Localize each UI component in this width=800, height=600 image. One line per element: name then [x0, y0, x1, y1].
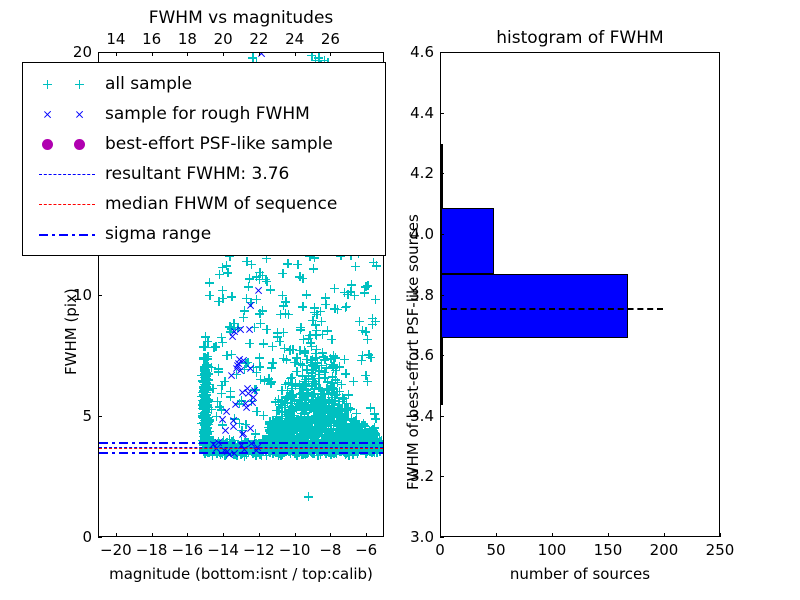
- scatter-point-all-sample: [351, 429, 360, 438]
- plus-marker-icon: [75, 80, 84, 89]
- scatter-point-all-sample: [201, 416, 210, 425]
- right-ytick: [440, 173, 444, 174]
- scatter-point-all-sample: [262, 277, 271, 286]
- scatter-point-all-sample: [310, 430, 319, 439]
- scatter-point-all-sample: [369, 428, 378, 437]
- scatter-point-all-sample: [274, 428, 283, 437]
- scatter-point-all-sample: [315, 422, 324, 431]
- scatter-point-all-sample: [291, 421, 300, 430]
- scatter-point-all-sample: [286, 428, 295, 437]
- scatter-point-all-sample: [317, 389, 326, 398]
- scatter-point-all-sample: [280, 432, 289, 441]
- scatter-point-all-sample: [327, 406, 336, 415]
- scatter-point-all-sample: [345, 425, 354, 434]
- scatter-point-all-sample: [323, 411, 332, 420]
- scatter-point-all-sample: [202, 361, 211, 370]
- legend-label: median FHWM of sequence: [105, 196, 337, 213]
- scatter-point-all-sample: [271, 424, 280, 433]
- scatter-point-all-sample: [330, 284, 339, 293]
- scatter-point-all-sample: [303, 433, 312, 442]
- scatter-point-all-sample: [252, 295, 261, 304]
- scatter-point-all-sample: [285, 423, 294, 432]
- scatter-point-all-sample: [265, 426, 274, 435]
- legend-label: best-effort PSF-like sample: [105, 136, 333, 153]
- scatter-point-all-sample: [202, 410, 211, 419]
- scatter-point-all-sample: [242, 294, 251, 303]
- scatter-point-all-sample: [368, 425, 377, 434]
- scatter-point-all-sample: [310, 405, 319, 414]
- scatter-point-all-sample: [200, 431, 209, 440]
- scatter-point-all-sample: [340, 421, 349, 430]
- scatter-point-all-sample: [199, 353, 208, 362]
- scatter-point-all-sample: [324, 398, 333, 407]
- scatter-point-all-sample: [237, 396, 246, 405]
- scatter-point-all-sample: [205, 417, 214, 426]
- scatter-point-all-sample: [203, 430, 212, 439]
- scatter-point-all-sample: [203, 408, 212, 417]
- scatter-point-all-sample: [204, 362, 213, 371]
- scatter-point-all-sample: [201, 414, 210, 423]
- scatter-point-all-sample: [357, 421, 366, 430]
- scatter-point-all-sample: [304, 428, 313, 437]
- scatter-point-all-sample: [344, 432, 353, 441]
- scatter-point-all-sample: [285, 346, 294, 355]
- scatter-point-all-sample: [201, 370, 210, 379]
- scatter-point-all-sample: [314, 418, 323, 427]
- scatter-point-all-sample: [267, 377, 276, 386]
- scatter-point-all-sample: [335, 387, 344, 396]
- left-xtick-bottom: [187, 533, 188, 537]
- scatter-point-all-sample: [296, 426, 305, 435]
- scatter-point-all-sample: [201, 424, 210, 433]
- scatter-point-all-sample: [266, 379, 275, 388]
- scatter-point-all-sample: [201, 399, 210, 408]
- scatter-point-all-sample: [317, 317, 326, 326]
- scatter-point-all-sample: [328, 372, 337, 381]
- scatter-point-rough-sample: [232, 364, 241, 373]
- scatter-point-all-sample: [241, 359, 250, 368]
- scatter-point-all-sample: [367, 432, 376, 441]
- scatter-point-all-sample: [294, 399, 303, 408]
- left-xtick-bottom-label: −18: [136, 541, 168, 559]
- scatter-point-all-sample: [296, 430, 305, 439]
- scatter-point-all-sample: [325, 428, 334, 437]
- scatter-point-all-sample: [332, 432, 341, 441]
- scatter-point-all-sample: [217, 381, 226, 390]
- scatter-point-all-sample: [247, 260, 256, 269]
- scatter-point-all-sample: [199, 378, 208, 387]
- scatter-point-all-sample: [313, 395, 322, 404]
- scatter-point-all-sample: [352, 427, 361, 436]
- histogram-bar: [441, 274, 628, 338]
- scatter-point-all-sample: [313, 358, 322, 367]
- scatter-point-all-sample: [305, 405, 314, 414]
- scatter-point-all-sample: [334, 400, 343, 409]
- scatter-point-all-sample: [324, 399, 333, 408]
- scatter-point-all-sample: [290, 425, 299, 434]
- right-xtick: [720, 533, 721, 537]
- scatter-point-all-sample: [302, 429, 311, 438]
- scatter-point-all-sample: [280, 408, 289, 417]
- scatter-point-all-sample: [202, 380, 211, 389]
- scatter-point-all-sample: [368, 431, 377, 440]
- scatter-point-all-sample: [310, 423, 319, 432]
- scatter-point-all-sample: [218, 263, 227, 272]
- left-xtick-bottom-label: −6: [355, 541, 377, 559]
- scatter-point-all-sample: [277, 429, 286, 438]
- scatter-point-all-sample: [211, 342, 220, 351]
- scatter-point-all-sample: [288, 392, 297, 401]
- scatter-point-all-sample: [357, 426, 366, 435]
- scatter-point-all-sample: [279, 428, 288, 437]
- scatter-point-all-sample: [371, 429, 380, 438]
- scatter-point-all-sample: [201, 375, 210, 384]
- scatter-point-all-sample: [282, 414, 291, 423]
- scatter-point-all-sample: [364, 432, 373, 441]
- scatter-point-rough-sample: [228, 332, 237, 341]
- legend-handle: [31, 192, 105, 216]
- legend-item: median FHWM of sequence: [31, 189, 377, 219]
- scatter-point-all-sample: [328, 429, 337, 438]
- scatter-point-rough-sample: [231, 400, 240, 409]
- scatter-point-all-sample: [290, 416, 299, 425]
- scatter-point-all-sample: [317, 402, 326, 411]
- scatter-point-all-sample: [312, 345, 321, 354]
- scatter-point-all-sample: [364, 350, 373, 359]
- scatter-point-all-sample: [327, 406, 336, 415]
- scatter-point-all-sample: [202, 415, 211, 424]
- scatter-point-all-sample: [357, 427, 366, 436]
- scatter-point-all-sample: [200, 411, 209, 420]
- scatter-point-all-sample: [339, 427, 348, 436]
- scatter-point-all-sample: [313, 422, 322, 431]
- scatter-point-all-sample: [295, 395, 304, 404]
- scatter-point-all-sample: [202, 401, 211, 410]
- scatter-point-all-sample: [337, 380, 346, 389]
- scatter-point-all-sample: [309, 413, 318, 422]
- scatter-point-all-sample: [308, 418, 317, 427]
- scatter-point-all-sample: [342, 399, 351, 408]
- scatter-point-all-sample: [200, 432, 209, 441]
- scatter-point-all-sample: [269, 420, 278, 429]
- scatter-point-all-sample: [235, 399, 244, 408]
- legend-item: resultant FWHM: 3.76: [31, 159, 377, 189]
- scatter-point-all-sample: [337, 419, 346, 428]
- scatter-point-all-sample: [362, 433, 371, 442]
- scatter-point-all-sample: [320, 424, 329, 433]
- scatter-point-all-sample: [357, 428, 366, 437]
- scatter-point-all-sample: [272, 429, 281, 438]
- legend-item: sigma range: [31, 219, 377, 249]
- scatter-point-all-sample: [295, 420, 304, 429]
- left-ytick-label: 5: [54, 407, 92, 425]
- scatter-point-all-sample: [283, 423, 292, 432]
- scatter-point-all-sample: [284, 406, 293, 415]
- left-ytick: [98, 537, 102, 538]
- scatter-point-all-sample: [356, 427, 365, 436]
- scatter-point-all-sample: [227, 350, 236, 359]
- scatter-point-all-sample: [358, 351, 367, 360]
- scatter-point-all-sample: [202, 394, 211, 403]
- scatter-point-all-sample: [282, 423, 291, 432]
- scatter-point-all-sample: [308, 360, 317, 369]
- scatter-point-all-sample: [200, 398, 209, 407]
- scatter-point-all-sample: [313, 431, 322, 440]
- scatter-point-all-sample: [200, 395, 209, 404]
- scatter-point-all-sample: [363, 281, 372, 290]
- scatter-point-all-sample: [280, 426, 289, 435]
- scatter-point-all-sample: [333, 410, 342, 419]
- scatter-point-all-sample: [296, 389, 305, 398]
- scatter-point-all-sample: [316, 396, 325, 405]
- scatter-point-all-sample: [295, 417, 304, 426]
- cross-marker-icon: [43, 110, 52, 119]
- scatter-point-all-sample: [317, 392, 326, 401]
- scatter-point-all-sample: [200, 404, 209, 413]
- scatter-point-all-sample: [269, 417, 278, 426]
- scatter-point-all-sample: [352, 428, 361, 437]
- scatter-point-all-sample: [344, 427, 353, 436]
- scatter-point-all-sample: [363, 429, 372, 438]
- scatter-point-all-sample: [290, 418, 299, 427]
- scatter-point-all-sample: [199, 418, 208, 427]
- scatter-point-all-sample: [298, 302, 307, 311]
- scatter-point-all-sample: [205, 291, 214, 300]
- scatter-point-all-sample: [338, 427, 347, 436]
- scatter-point-all-sample: [295, 426, 304, 435]
- scatter-point-all-sample: [311, 399, 320, 408]
- scatter-point-all-sample: [201, 422, 210, 431]
- scatter-point-all-sample: [279, 428, 288, 437]
- scatter-point-all-sample: [199, 399, 208, 408]
- scatter-point-all-sample: [201, 396, 210, 405]
- scatter-point-all-sample: [324, 398, 333, 407]
- scatter-point-all-sample: [303, 402, 312, 411]
- scatter-point-all-sample: [203, 354, 212, 363]
- scatter-point-all-sample: [282, 425, 291, 434]
- scatter-point-all-sample: [246, 298, 255, 307]
- scatter-point-all-sample: [295, 380, 304, 389]
- scatter-point-all-sample: [354, 429, 363, 438]
- scatter-point-all-sample: [321, 300, 330, 309]
- scatter-point-all-sample: [335, 362, 344, 371]
- scatter-point-all-sample: [199, 405, 208, 414]
- scatter-point-all-sample: [347, 431, 356, 440]
- scatter-point-all-sample: [205, 427, 214, 436]
- scatter-point-all-sample: [283, 259, 292, 268]
- scatter-point-all-sample: [336, 418, 345, 427]
- scatter-point-all-sample: [201, 366, 210, 375]
- left-xtick-bottom: [116, 533, 117, 537]
- scatter-point-all-sample: [200, 418, 209, 427]
- scatter-point-all-sample: [197, 392, 206, 401]
- figure-canvas: FWHM vs magnitudes FWHM (pix) magnitude …: [0, 0, 800, 600]
- scatter-point-all-sample: [352, 409, 361, 418]
- scatter-point-all-sample: [255, 268, 264, 277]
- scatter-point-all-sample: [200, 433, 209, 442]
- scatter-point-all-sample: [214, 367, 223, 376]
- scatter-point-all-sample: [282, 412, 291, 421]
- scatter-point-all-sample: [292, 404, 301, 413]
- scatter-point-all-sample: [319, 352, 328, 361]
- scatter-point-all-sample: [327, 416, 336, 425]
- scatter-point-all-sample: [266, 423, 275, 432]
- scatter-point-all-sample: [209, 343, 218, 352]
- scatter-point-all-sample: [369, 258, 378, 267]
- scatter-point-all-sample: [297, 384, 306, 393]
- right-panel-title: histogram of FWHM: [440, 28, 720, 48]
- scatter-point-all-sample: [201, 436, 210, 445]
- scatter-point-all-sample: [336, 420, 345, 429]
- scatter-point-all-sample: [248, 53, 257, 62]
- scatter-point-all-sample: [282, 422, 291, 431]
- scatter-point-all-sample: [313, 412, 322, 421]
- scatter-point-rough-sample: [218, 415, 227, 424]
- scatter-point-all-sample: [367, 428, 376, 437]
- scatter-point-all-sample: [200, 342, 209, 351]
- scatter-point-all-sample: [340, 355, 349, 364]
- scatter-point-all-sample: [202, 405, 211, 414]
- scatter-point-all-sample: [296, 323, 305, 332]
- scatter-point-all-sample: [202, 414, 211, 423]
- scatter-point-all-sample: [331, 396, 340, 405]
- scatter-point-all-sample: [333, 431, 342, 440]
- scatter-point-all-sample: [301, 402, 310, 411]
- scatter-point-all-sample: [298, 425, 307, 434]
- scatter-point-all-sample: [277, 429, 286, 438]
- legend-item: sample for rough FWHM: [31, 99, 377, 129]
- scatter-point-all-sample: [351, 427, 360, 436]
- scatter-point-all-sample: [366, 353, 375, 362]
- scatter-point-all-sample: [277, 416, 286, 425]
- scatter-point-all-sample: [287, 414, 296, 423]
- scatter-point-all-sample: [199, 342, 208, 351]
- scatter-point-all-sample: [338, 409, 347, 418]
- scatter-point-all-sample: [203, 337, 212, 346]
- scatter-point-all-sample: [226, 387, 235, 396]
- scatter-point-all-sample: [281, 398, 290, 407]
- reference-line-median-fhwm-of-sequence: [99, 448, 383, 449]
- legend-handle: [31, 162, 105, 186]
- scatter-point-all-sample: [250, 323, 259, 332]
- scatter-point-all-sample: [268, 433, 277, 442]
- scatter-point-all-sample: [302, 290, 311, 299]
- scatter-point-all-sample: [314, 383, 323, 392]
- scatter-point-all-sample: [286, 345, 295, 354]
- scatter-point-all-sample: [287, 426, 296, 435]
- scatter-point-all-sample: [355, 432, 364, 441]
- scatter-point-all-sample: [202, 382, 211, 391]
- scatter-point-all-sample: [201, 388, 210, 397]
- scatter-point-all-sample: [272, 426, 281, 435]
- scatter-point-all-sample: [352, 422, 361, 431]
- scatter-point-all-sample: [255, 362, 264, 371]
- scatter-point-all-sample: [309, 432, 318, 441]
- scatter-point-all-sample: [363, 429, 372, 438]
- scatter-point-all-sample: [332, 408, 341, 417]
- scatter-point-all-sample: [351, 422, 360, 431]
- scatter-point-all-sample: [333, 421, 342, 430]
- scatter-point-all-sample: [357, 426, 366, 435]
- scatter-point-all-sample: [319, 418, 328, 427]
- scatter-point-all-sample: [199, 400, 208, 409]
- scatter-point-all-sample: [327, 335, 336, 344]
- scatter-point-all-sample: [203, 402, 212, 411]
- scatter-point-all-sample: [277, 396, 286, 405]
- scatter-point-all-sample: [265, 427, 274, 436]
- scatter-point-all-sample: [351, 262, 360, 271]
- scatter-point-all-sample: [324, 411, 333, 420]
- scatter-point-all-sample: [203, 423, 212, 432]
- scatter-point-all-sample: [356, 425, 365, 434]
- scatter-point-all-sample: [200, 409, 209, 418]
- right-xtick-label: 250: [706, 541, 735, 559]
- scatter-point-all-sample: [368, 428, 377, 437]
- scatter-point-all-sample: [308, 316, 317, 325]
- scatter-point-all-sample: [291, 419, 300, 428]
- scatter-point-all-sample: [202, 388, 211, 397]
- scatter-point-all-sample: [266, 420, 275, 429]
- scatter-point-all-sample: [289, 406, 298, 415]
- scatter-point-all-sample: [302, 365, 311, 374]
- scatter-point-all-sample: [264, 432, 273, 441]
- scatter-point-all-sample: [288, 420, 297, 429]
- scatter-point-all-sample: [240, 365, 249, 374]
- scatter-point-all-sample: [321, 293, 330, 302]
- right-ytick-label: 4.6: [392, 43, 434, 61]
- scatter-point-all-sample: [275, 337, 284, 346]
- left-xtick-top: [187, 52, 188, 56]
- scatter-point-all-sample: [341, 303, 350, 312]
- scatter-point-all-sample: [268, 432, 277, 441]
- scatter-point-all-sample: [273, 332, 282, 341]
- scatter-point-all-sample: [215, 402, 224, 411]
- scatter-point-all-sample: [343, 425, 352, 434]
- scatter-point-all-sample: [200, 380, 209, 389]
- scatter-point-all-sample: [345, 433, 354, 442]
- scatter-point-all-sample: [301, 382, 310, 391]
- scatter-point-all-sample: [301, 395, 310, 404]
- scatter-point-all-sample: [226, 327, 235, 336]
- scatter-point-all-sample: [317, 428, 326, 437]
- scatter-point-all-sample: [368, 430, 377, 439]
- scatter-point-all-sample: [200, 395, 209, 404]
- scatter-point-all-sample: [338, 424, 347, 433]
- scatter-point-all-sample: [300, 379, 309, 388]
- scatter-point-all-sample: [281, 309, 290, 318]
- scatter-point-all-sample: [279, 427, 288, 436]
- scatter-point-all-sample: [306, 338, 315, 347]
- scatter-point-all-sample: [337, 412, 346, 421]
- scatter-point-all-sample: [344, 432, 353, 441]
- scatter-point-all-sample: [198, 376, 207, 385]
- scatter-point-all-sample: [201, 381, 210, 390]
- scatter-point-all-sample: [369, 433, 378, 442]
- scatter-point-all-sample: [346, 404, 355, 413]
- scatter-point-all-sample: [337, 405, 346, 414]
- scatter-point-all-sample: [272, 412, 281, 421]
- scatter-point-all-sample: [200, 392, 209, 401]
- scatter-point-all-sample: [288, 421, 297, 430]
- scatter-point-all-sample: [311, 379, 320, 388]
- scatter-point-all-sample: [285, 409, 294, 418]
- scatter-point-all-sample: [255, 353, 264, 362]
- scatter-point-all-sample: [215, 270, 224, 279]
- scatter-point-all-sample: [284, 310, 293, 319]
- scatter-point-all-sample: [252, 368, 261, 377]
- scatter-point-all-sample: [304, 401, 313, 410]
- scatter-point-rough-sample: [234, 359, 243, 368]
